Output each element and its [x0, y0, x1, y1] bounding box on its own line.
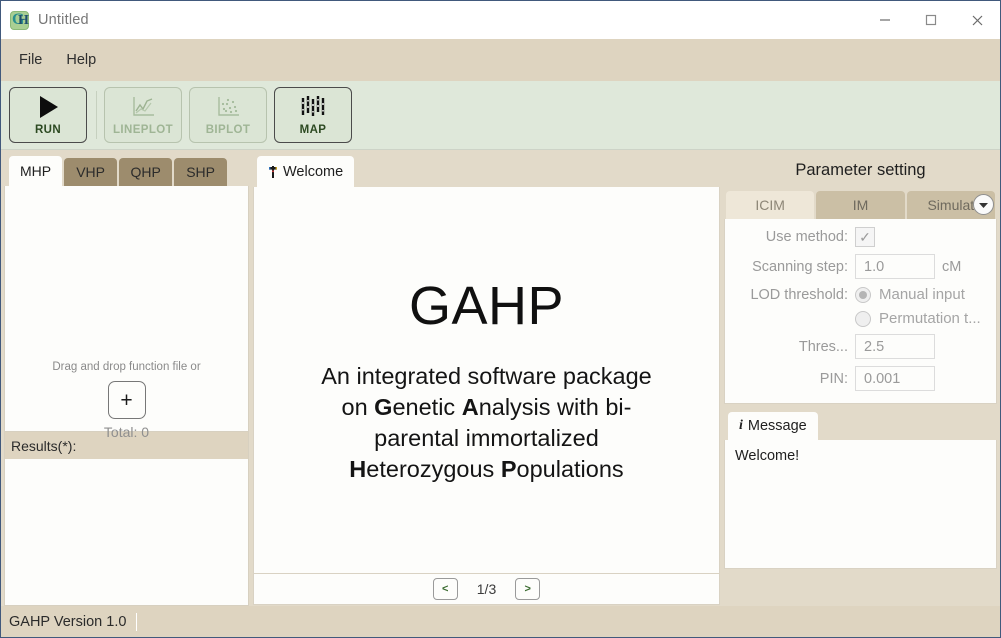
map-button[interactable]: MAP [274, 87, 352, 143]
menu-item-file[interactable]: File [7, 48, 54, 72]
pin-row: PIN: 0.001 [733, 366, 982, 391]
toolbar: RUN LINEPLOT [1, 81, 1000, 150]
permutation-label: Permutation t... [879, 310, 981, 327]
results-list[interactable] [4, 459, 249, 606]
dropzone-hint: Drag and drop function file or [52, 361, 200, 373]
biplot-button[interactable]: BIPLOT [189, 87, 267, 143]
menu-item-help[interactable]: Help [54, 48, 108, 72]
scanning-step-input[interactable]: 1.0 [855, 254, 935, 279]
info-icon: i [739, 418, 743, 434]
welcome-canvas: GAHP An integrated software package on G… [253, 187, 720, 574]
status-divider [136, 613, 137, 631]
desc-accent-a: A [462, 394, 479, 420]
parameter-setting-title: Parameter setting [724, 150, 997, 190]
use-method-row: Use method: ✓ [733, 227, 982, 247]
desc-accent-p: P [501, 456, 517, 482]
tab-message-label: Message [748, 418, 807, 434]
threshold-input[interactable]: 2.5 [855, 334, 935, 359]
use-method-label: Use method: [733, 229, 855, 245]
use-method-checkbox[interactable]: ✓ [855, 227, 875, 247]
biplot-icon [215, 94, 241, 120]
desc-line-1: An integrated software package [321, 363, 652, 389]
page-title: GAHP [409, 275, 564, 337]
desc-line-2c: enetic [392, 394, 461, 420]
message-body: Welcome! [724, 440, 997, 569]
file-total-label: Total: 0 [104, 424, 149, 440]
chevron-down-icon[interactable] [973, 194, 994, 215]
population-tabstrip: MHP VHP QHP SHP [4, 156, 249, 186]
lineplot-button[interactable]: LINEPLOT [104, 87, 182, 143]
manual-input-radio[interactable] [855, 287, 871, 303]
desc-line-2a: on [342, 394, 375, 420]
scanning-step-label: Scanning step: [733, 259, 855, 275]
status-version-text: GAHP Version 1.0 [9, 614, 126, 630]
tab-mhp[interactable]: MHP [9, 156, 62, 186]
lineplot-button-label: LINEPLOT [113, 124, 173, 136]
tab-vhp[interactable]: VHP [64, 158, 117, 186]
minimize-icon[interactable] [862, 1, 908, 39]
permutation-radio[interactable] [855, 311, 871, 327]
tab-message[interactable]: i Message [728, 412, 818, 440]
message-tabstrip: i Message [724, 410, 997, 440]
app-logo-icon: GH [10, 11, 29, 30]
center-tabstrip: Welcome [253, 156, 720, 187]
threshold-row: Thres... 2.5 [733, 334, 982, 359]
right-panel: Parameter setting ICIM IM Simulat Use me… [724, 150, 997, 605]
close-icon[interactable] [954, 1, 1000, 39]
radio-dot [859, 291, 867, 299]
welcome-description: An integrated software package on Geneti… [321, 361, 652, 486]
desc-line-3: parental immortalized [374, 425, 599, 451]
pager: < 1/3 > [253, 574, 720, 605]
parameter-form: Use method: ✓ Scanning step: 1.0 cM LOD … [724, 219, 997, 404]
tab-im[interactable]: IM [816, 191, 904, 219]
tab-shp[interactable]: SHP [174, 158, 227, 186]
title-bar: GH Untitled [1, 1, 1000, 39]
left-panel: MHP VHP QHP SHP Drag and drop function f… [4, 156, 249, 605]
desc-line-2e: nalysis with bi- [479, 394, 632, 420]
pin-input[interactable]: 0.001 [855, 366, 935, 391]
method-tabstrip: ICIM IM Simulat [724, 190, 997, 219]
tab-icim[interactable]: ICIM [726, 191, 814, 219]
window-title: Untitled [38, 12, 89, 28]
maximize-icon[interactable] [908, 1, 954, 39]
play-icon [33, 94, 63, 120]
prev-page-button[interactable]: < [433, 578, 458, 600]
lineplot-icon [130, 94, 156, 120]
lod-threshold-label: LOD threshold: [733, 287, 855, 303]
status-bar: GAHP Version 1.0 [1, 606, 1000, 637]
add-file-button[interactable]: + [108, 381, 146, 419]
window-controls [862, 1, 1000, 39]
next-page-button[interactable]: > [515, 578, 540, 600]
map-button-label: MAP [300, 124, 327, 136]
main-content: MHP VHP QHP SHP Drag and drop function f… [1, 150, 1000, 607]
manual-input-label: Manual input [879, 286, 965, 303]
dropzone[interactable]: Drag and drop function file or + Total: … [5, 361, 248, 440]
tab-qhp[interactable]: QHP [119, 158, 172, 186]
desc-line-4d: opulations [517, 456, 624, 482]
page-indicator: 1/3 [477, 581, 496, 597]
welcome-icon [268, 165, 278, 179]
desc-accent-h: H [349, 456, 366, 482]
toolbar-divider [96, 91, 97, 139]
run-button[interactable]: RUN [9, 87, 87, 143]
desc-accent-g: G [374, 394, 392, 420]
lod-threshold-row: LOD threshold: Manual input [733, 286, 982, 303]
scanning-step-row: Scanning step: 1.0 cM [733, 254, 982, 279]
tab-welcome[interactable]: Welcome [257, 156, 354, 187]
tab-welcome-label: Welcome [283, 164, 343, 180]
center-panel: Welcome GAHP An integrated software pack… [253, 156, 720, 605]
biplot-button-label: BIPLOT [206, 124, 251, 136]
desc-line-4b: eterozygous [366, 456, 501, 482]
run-button-label: RUN [35, 124, 61, 136]
file-dropzone-panel[interactable]: Drag and drop function file or + Total: … [4, 186, 249, 432]
map-icon [298, 94, 328, 120]
threshold-label: Thres... [733, 339, 855, 355]
scanning-step-unit: cM [942, 259, 961, 275]
pin-label: PIN: [733, 371, 855, 387]
menu-bar: File Help [1, 39, 1000, 81]
application-window: GH Untitled File Help RUN [0, 0, 1001, 638]
permutation-row: Permutation t... [733, 310, 982, 327]
